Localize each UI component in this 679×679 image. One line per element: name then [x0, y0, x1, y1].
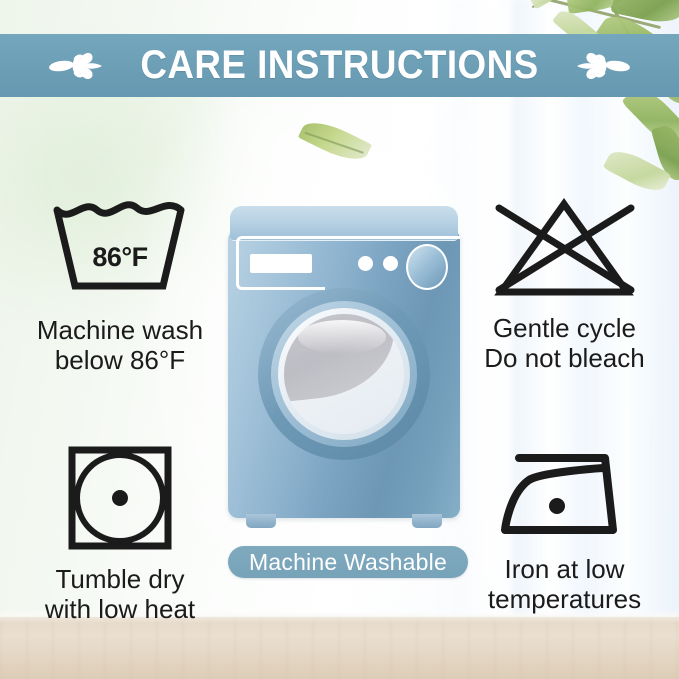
machine-indicator-dot	[383, 256, 398, 271]
crossed-triangle-icon	[487, 198, 642, 303]
care-icon-machine-wash: 86°F Machine wash below 86°F	[14, 198, 226, 375]
care-icon-gentle-cycle-no-bleach: Gentle cycle Do not bleach	[452, 198, 677, 373]
tumble-dry-label-line2: with low heat	[14, 594, 226, 624]
machine-wash-label-line1: Machine wash	[14, 315, 226, 345]
machine-door-shine	[298, 320, 386, 354]
no-bleach-label-line1: Gentle cycle	[452, 313, 677, 343]
machine-foot-right	[412, 514, 442, 528]
iron-icon-wrap	[452, 444, 677, 544]
care-instructions-infographic: CARE INSTRUCTIONS	[0, 0, 679, 679]
tumble-dry-label: Tumble dry with low heat	[14, 564, 226, 624]
machine-door-glass	[284, 314, 404, 434]
tumble-dry-icon-wrap	[14, 444, 226, 552]
iron-label-line2: temperatures	[452, 584, 677, 614]
no-bleach-label-line2: Do not bleach	[452, 343, 677, 373]
iron-heat-dot	[549, 498, 565, 514]
tumble-dry-label-line1: Tumble dry	[14, 564, 226, 594]
machine-panel-strip	[322, 236, 460, 239]
leaf-branch-icon	[509, 0, 679, 212]
machine-wash-label: Machine wash below 86°F	[14, 315, 226, 375]
tumble-dry-square-icon	[66, 444, 174, 552]
washing-machine-illustration	[228, 206, 460, 536]
no-bleach-label: Gentle cycle Do not bleach	[452, 313, 677, 373]
care-icon-tumble-dry: Tumble dry with low heat	[14, 444, 226, 624]
machine-washable-badge: Machine Washable	[228, 546, 468, 578]
machine-indicator-dot	[358, 256, 373, 271]
wash-temperature-value: 86°F	[45, 242, 195, 273]
machine-washable-label: Machine Washable	[249, 549, 447, 576]
iron-label: Iron at low temperatures	[452, 554, 677, 614]
care-icon-iron: Iron at low temperatures	[452, 444, 677, 614]
machine-wash-icon-wrap: 86°F	[14, 198, 226, 303]
machine-detergent-drawer	[250, 254, 312, 273]
fleur-de-lis-icon-right	[574, 46, 630, 86]
page-title: CARE INSTRUCTIONS	[140, 43, 538, 88]
machine-foot-left	[246, 514, 276, 528]
iron-icon	[495, 444, 635, 544]
machine-program-knob	[406, 244, 448, 290]
fleur-de-lis-icon-left	[49, 46, 105, 86]
wood-grain-texture	[0, 621, 679, 679]
iron-label-line1: Iron at low	[452, 554, 677, 584]
no-bleach-icon-wrap	[452, 198, 677, 303]
tumble-dry-heat-dot	[112, 490, 128, 506]
machine-wash-label-line2: below 86°F	[14, 345, 226, 375]
header-banner: CARE INSTRUCTIONS	[0, 34, 679, 97]
